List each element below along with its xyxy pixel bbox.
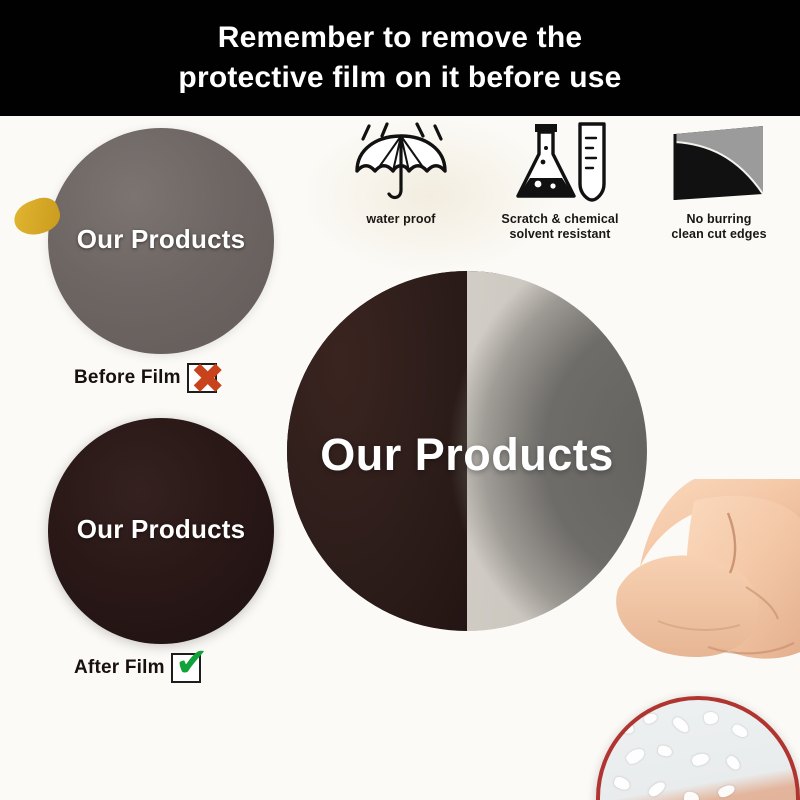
feature-row: water proof <box>330 120 790 242</box>
hero-title: Our Products <box>287 429 647 481</box>
caption-line-2: clean cut edges <box>671 227 766 242</box>
feature-chemical-resistant: Scratch & chemical solvent resistant <box>489 120 631 242</box>
feature-water-proof: water proof <box>330 120 472 242</box>
x-mark-glyph: ✖ <box>190 359 226 399</box>
after-film-verdict: After Film ✔ <box>74 653 201 683</box>
header-banner: Remember to remove the protective film o… <box>0 0 800 116</box>
feature-caption-no-burring: No burring clean cut edges <box>671 212 766 242</box>
check-mark-icon: ✔ <box>171 653 201 683</box>
after-film-disc: Our Products <box>48 418 274 644</box>
hand-peeling-film <box>598 471 800 686</box>
hero-product-disc: Our Products <box>287 271 647 631</box>
before-film-disc: Our Products <box>48 128 274 354</box>
feature-caption-chemical-resistant: Scratch & chemical solvent resistant <box>501 212 618 242</box>
check-mark-glyph: ✔ <box>175 643 209 683</box>
caption-line-1: Scratch & chemical <box>501 212 618 227</box>
header-line-1: Remember to remove the <box>218 18 583 58</box>
caption-line-2: solvent resistant <box>501 227 618 242</box>
before-disc-label: Our Products <box>48 224 274 255</box>
header-line-2: protective film on it before use <box>178 58 621 98</box>
product-infographic: Remember to remove the protective film o… <box>0 0 800 800</box>
peeling-sheet-icon <box>667 120 771 206</box>
after-film-text: After Film <box>74 657 165 679</box>
main-canvas: water proof <box>0 116 800 800</box>
before-film-text: Before Film <box>74 367 181 389</box>
flask-test-tube-icon <box>508 120 612 206</box>
after-disc-label: Our Products <box>48 514 274 545</box>
caption-line-1: No burring <box>671 212 766 227</box>
granule-inset-circle <box>596 696 800 800</box>
feature-caption-water-proof: water proof <box>366 212 435 227</box>
before-film-verdict: Before Film ✖ <box>74 363 217 393</box>
feature-no-burring: No burring clean cut edges <box>648 120 790 242</box>
x-mark-icon: ✖ <box>187 363 217 393</box>
umbrella-icon <box>347 120 455 206</box>
caption-line-1: water proof <box>366 212 435 227</box>
